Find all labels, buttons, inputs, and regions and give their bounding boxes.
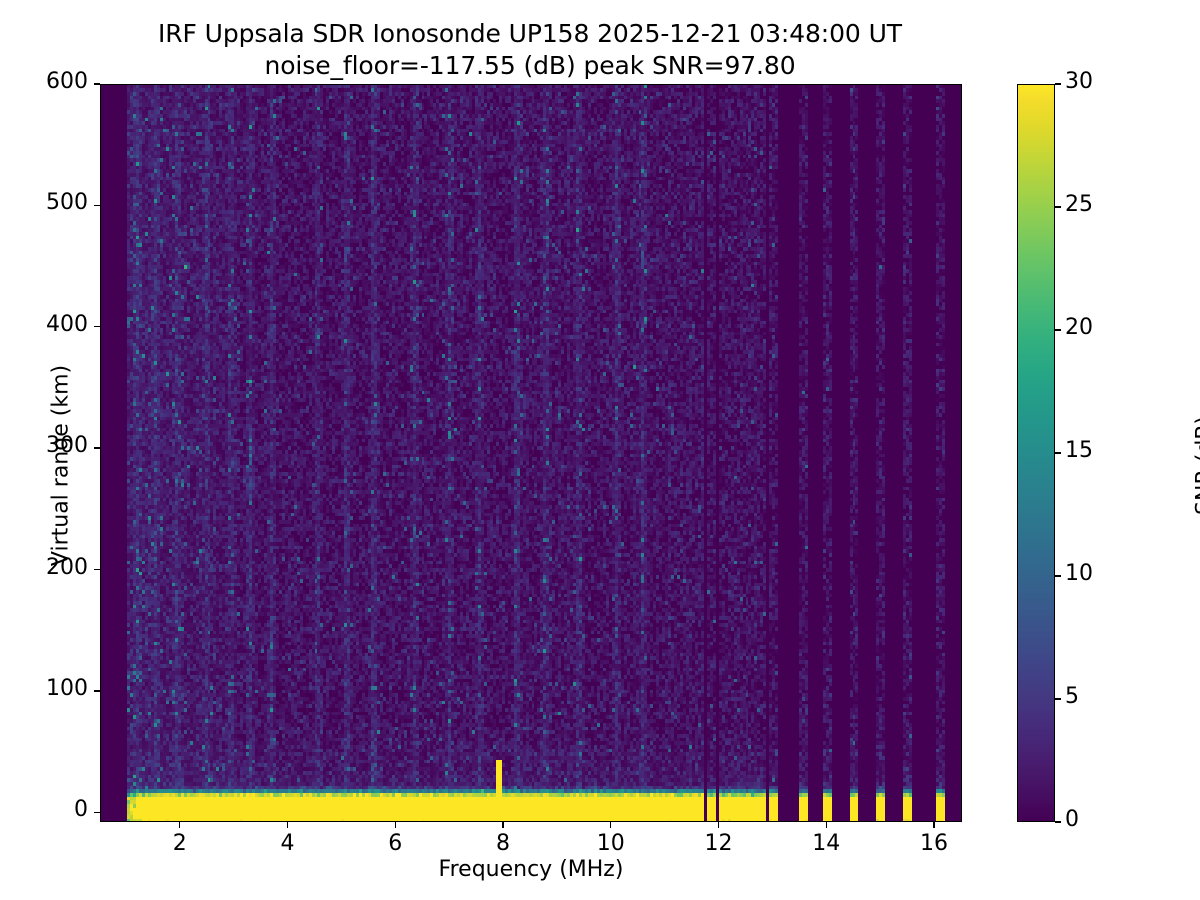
figure-title: IRF Uppsala SDR Ionosonde UP158 2025-12-… xyxy=(0,18,1060,82)
y-tick-label: 600 xyxy=(46,69,88,94)
x-tick-label: 14 xyxy=(796,831,856,856)
ionogram-heatmap xyxy=(101,85,962,822)
x-tick-mark xyxy=(610,822,611,828)
colorbar-tick-label: 10 xyxy=(1065,561,1093,586)
y-axis-label: Virtual range (km) xyxy=(49,97,74,835)
colorbar-tick-mark xyxy=(1055,698,1061,699)
title-line-2: noise_floor=-117.55 (dB) peak SNR=97.80 xyxy=(0,50,1060,82)
x-tick-mark xyxy=(395,822,396,828)
colorbar-tick-mark xyxy=(1055,83,1061,84)
x-tick-label: 16 xyxy=(904,831,964,856)
y-tick-mark xyxy=(94,569,100,570)
colorbar-tick-label: 5 xyxy=(1065,684,1079,709)
y-tick-mark xyxy=(94,812,100,813)
x-tick-label: 12 xyxy=(688,831,748,856)
colorbar-tick-label: 20 xyxy=(1065,315,1093,340)
x-tick-label: 10 xyxy=(581,831,641,856)
colorbar xyxy=(1017,84,1055,822)
colorbar-tick-mark xyxy=(1055,452,1061,453)
x-axis-label: Frequency (MHz) xyxy=(100,857,962,882)
x-tick-mark xyxy=(933,822,934,828)
y-tick-mark xyxy=(94,205,100,206)
y-tick-mark xyxy=(94,447,100,448)
x-tick-label: 8 xyxy=(473,831,533,856)
title-line-1: IRF Uppsala SDR Ionosonde UP158 2025-12-… xyxy=(0,18,1060,50)
colorbar-tick-label: 30 xyxy=(1065,69,1093,94)
colorbar-gradient xyxy=(1018,85,1055,822)
x-tick-mark xyxy=(179,822,180,828)
y-tick-mark xyxy=(94,326,100,327)
x-tick-mark xyxy=(718,822,719,828)
plot-area xyxy=(100,84,962,822)
y-tick-label: 0 xyxy=(74,797,88,822)
x-tick-label: 6 xyxy=(365,831,425,856)
colorbar-tick-label: 25 xyxy=(1065,192,1093,217)
ionogram-figure: IRF Uppsala SDR Ionosonde UP158 2025-12-… xyxy=(0,0,1200,900)
x-tick-mark xyxy=(502,822,503,828)
colorbar-tick-label: 15 xyxy=(1065,438,1093,463)
y-tick-mark xyxy=(94,83,100,84)
colorbar-tick-mark xyxy=(1055,821,1061,822)
colorbar-tick-mark xyxy=(1055,575,1061,576)
x-tick-mark xyxy=(826,822,827,828)
colorbar-tick-mark xyxy=(1055,206,1061,207)
y-tick-mark xyxy=(94,690,100,691)
x-tick-label: 4 xyxy=(257,831,317,856)
colorbar-tick-mark xyxy=(1055,329,1061,330)
colorbar-tick-label: 0 xyxy=(1065,807,1079,832)
colorbar-label: SNR (dB) xyxy=(1193,97,1200,835)
x-tick-label: 2 xyxy=(150,831,210,856)
x-tick-mark xyxy=(287,822,288,828)
